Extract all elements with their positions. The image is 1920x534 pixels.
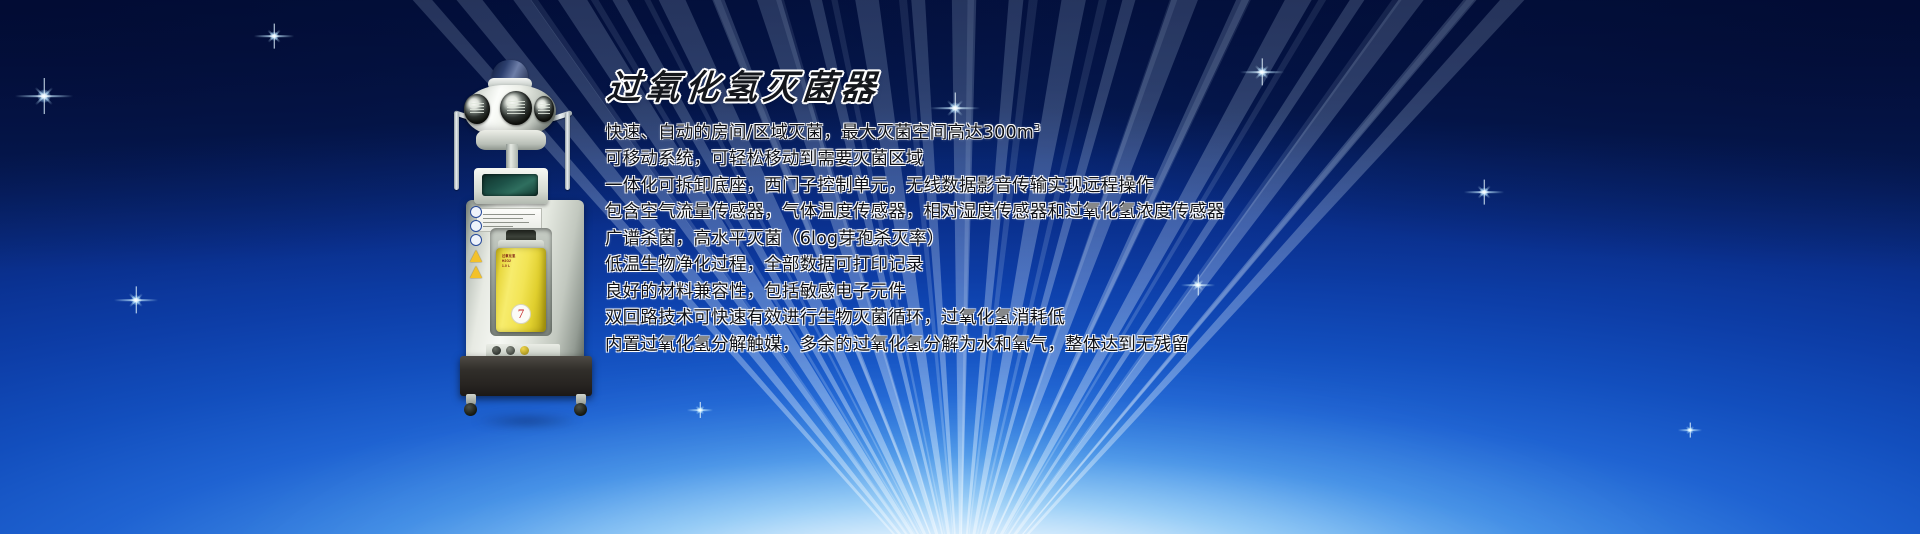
feature-list-item: 双回路技术可快速有效进行生物灭菌循环，过氧化氢消耗低 — [605, 305, 1885, 332]
warning-triangle-icon-2 — [470, 266, 482, 278]
warning-triangle-icon-1 — [470, 250, 482, 262]
decal-ce-icon — [470, 206, 482, 218]
peroxide-bottle: 过氧化氢 H2O2 1.0 L 7 — [496, 248, 546, 332]
bottle-label-line-3: 1.0 L — [502, 264, 540, 269]
feature-list-item: 可移动系统，可轻松移动到需要灭菌区域 — [605, 146, 1885, 173]
feature-list-item: 一体化可拆卸底座，西门子控制单元，无线数据影音传输实现远程操作 — [605, 173, 1885, 200]
decal-manual-icon — [470, 234, 482, 246]
device-shadow — [452, 410, 602, 432]
knob-right — [520, 346, 529, 355]
bottle-label-text: 过氧化氢 H2O2 1.0 L — [502, 254, 540, 269]
nozzle-left — [464, 94, 490, 124]
feature-list-item: 快速、自动的房间/区域灭菌，最大灭菌空间高达300m3 — [605, 116, 1885, 146]
panel-display — [482, 174, 538, 196]
feature-list-item: 广谱杀菌，高水平灭菌（6log芽孢杀灭率） — [605, 226, 1885, 253]
copy-block: 过氧化氢灭菌器 快速、自动的房间/区域灭菌，最大灭菌空间高达300m3可移动系统… — [605, 66, 1885, 358]
knob-center — [506, 346, 515, 355]
decal-info-icon — [470, 220, 482, 232]
product-image-hydrogen-peroxide-sterilizer: 过氧化氢 H2O2 1.0 L 7 — [430, 60, 620, 380]
feature-list-item: 包含空气流量传感器，气体温度传感器，相对湿度传感器和过氧化氢浓度传感器 — [605, 199, 1885, 226]
bottle-number-badge: 7 — [511, 304, 531, 324]
feature-list-item: 良好的材料兼容性，包括敏感电子元件 — [605, 279, 1885, 306]
feature-list-item: 低温生物净化过程，全部数据可打印记录 — [605, 252, 1885, 279]
handle-right — [565, 112, 570, 190]
product-banner: 过氧化氢 H2O2 1.0 L 7 过氧化氢灭菌器 快速、自动的房间/区域灭菌，… — [0, 0, 1920, 534]
feature-list: 快速、自动的房间/区域灭菌，最大灭菌空间高达300m3可移动系统，可轻松移动到需… — [605, 116, 1885, 358]
superscript: 3 — [1034, 123, 1041, 134]
feature-list-item: 内置过氧化氢分解触媒，多余的过氧化氢分解为水和氧气，整体达到无残留 — [605, 332, 1885, 359]
page-title: 过氧化氢灭菌器 — [605, 66, 1887, 110]
knob-left — [492, 346, 501, 355]
handle-left — [454, 112, 459, 190]
nozzle-right — [534, 96, 554, 122]
device-base-skirt — [460, 356, 592, 396]
nozzle-center — [500, 91, 532, 125]
